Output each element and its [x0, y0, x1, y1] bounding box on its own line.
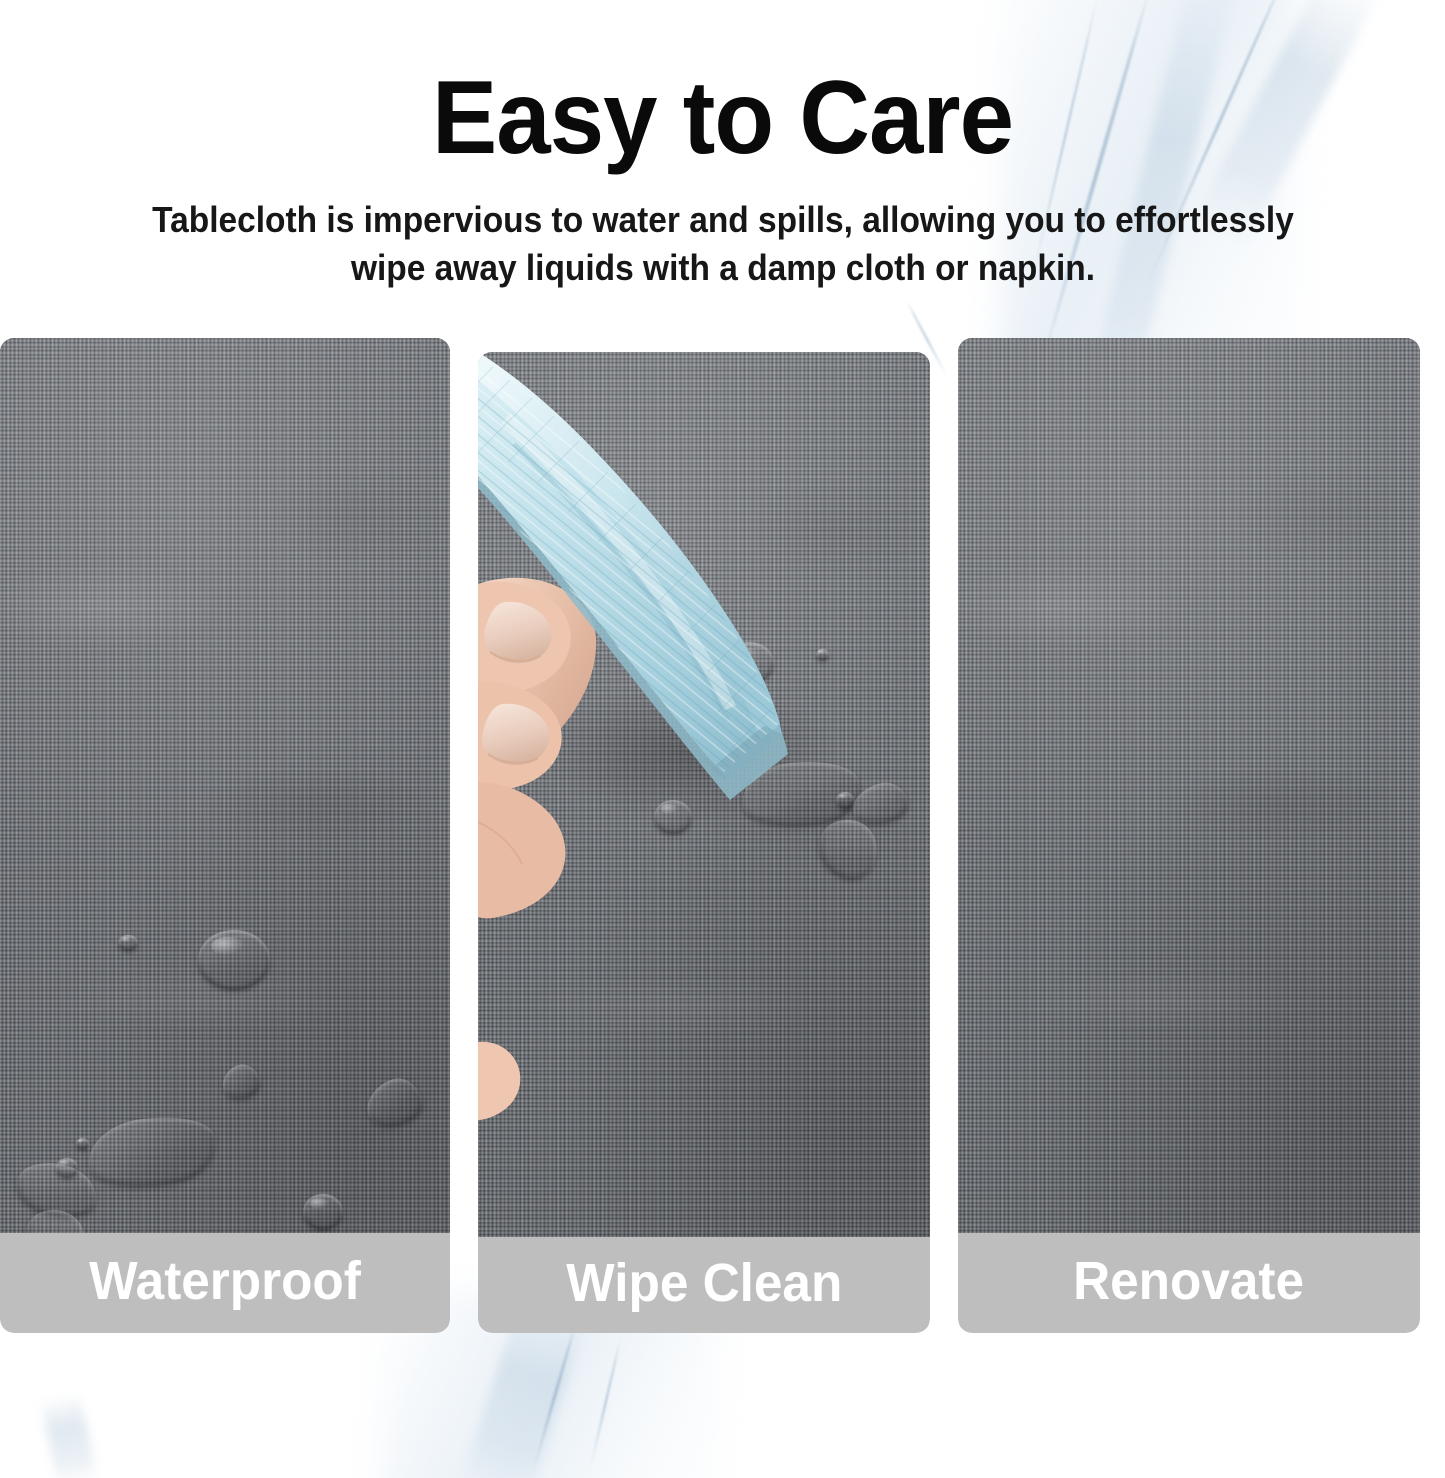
heading-block: Easy to Care Tablecloth is impervious to…	[0, 66, 1445, 291]
product-infographic: Easy to Care Tablecloth is impervious to…	[0, 0, 1445, 1478]
water-droplet-icon	[198, 930, 270, 990]
fabric-photo-renovate	[958, 338, 1420, 1233]
water-droplet-icon	[654, 800, 692, 834]
water-droplet-icon	[303, 1194, 343, 1230]
panel-label-renovate: Renovate	[1074, 1254, 1305, 1308]
water-droplet-icon	[816, 649, 829, 661]
water-droplet-icon	[836, 792, 854, 809]
water-droplet-icon	[76, 1138, 89, 1150]
fabric-shading	[958, 338, 1420, 1233]
feature-panel-renovate: Renovate	[958, 338, 1420, 1333]
fabric-photo-waterproof	[0, 338, 450, 1233]
page-subtitle: Tablecloth is impervious to water and sp…	[141, 196, 1304, 291]
feature-panels: Waterproof	[0, 338, 1445, 1333]
water-droplet-icon	[118, 935, 138, 951]
feature-panel-wipe-clean: Wipe Clean	[478, 352, 930, 1333]
panel-label-bar-renovate: Renovate	[958, 1233, 1420, 1333]
panel-label-bar-waterproof: Waterproof	[0, 1233, 450, 1333]
page-title: Easy to Care	[43, 66, 1401, 170]
panel-label-wipe-clean: Wipe Clean	[566, 1256, 842, 1310]
panel-label-bar-wipe-clean: Wipe Clean	[478, 1237, 930, 1333]
fabric-photo-wipe-clean	[478, 352, 930, 1237]
water-droplet-icon	[56, 1158, 78, 1178]
panel-label-waterproof: Waterproof	[89, 1254, 361, 1308]
feature-panel-waterproof: Waterproof	[0, 338, 450, 1333]
water-droplet-icon	[724, 642, 774, 684]
